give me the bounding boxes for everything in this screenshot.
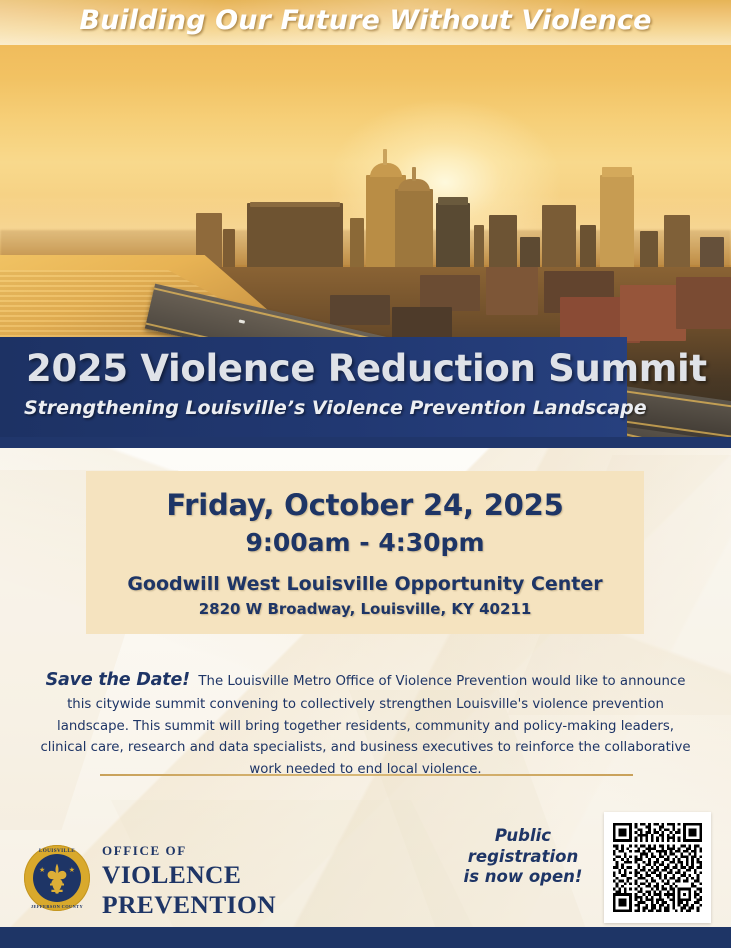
title-band: 2025 Violence Reduction Summit Strengthe… [0,337,627,437]
qr-code-card[interactable] [604,812,711,923]
page-title: 2025 Violence Reduction Summit [26,347,707,390]
event-date: Friday, October 24, 2025 [86,471,644,522]
flyer-page: Building Our Future Without Violence [0,0,731,948]
registration-line-2: is now open! [443,867,603,888]
city-block-2 [486,267,538,315]
fleur-de-lis-icon [44,863,70,895]
logo-office-of: OFFICE OF [102,843,276,859]
city-block-7 [330,295,390,325]
ovp-logo: LOUISVILLE JEFFERSON COUNTY ★ ★ OFFICE O… [24,843,269,919]
seal-top-text: LOUISVILLE [24,848,90,854]
event-details-box: Friday, October 24, 2025 9:00am - 4:30pm… [86,471,644,634]
louisville-jefferson-county-seal-icon: LOUISVILLE JEFFERSON COUNTY ★ ★ [24,845,90,911]
city-block-1 [420,275,480,311]
logo-prevention: PREVENTION [102,891,276,919]
registration-callout: Public registration is now open! [443,826,603,888]
banner-headline: Building Our Future Without Violence [0,5,731,36]
seal-inner-disc: ★ ★ [33,854,81,902]
event-venue: Goodwill West Louisville Opportunity Cen… [86,557,644,595]
navy-strip [0,437,731,448]
logo-violence: VIOLENCE [102,861,276,889]
footer-bar [0,927,731,948]
seal-bottom-text: JEFFERSON COUNTY [24,904,90,909]
ovp-logo-text: OFFICE OF VIOLENCE PREVENTION [102,843,276,918]
event-time: 9:00am - 4:30pm [86,522,644,557]
registration-line-1: Public registration [443,826,603,867]
city-block-6 [676,277,731,329]
event-address: 2820 W Broadway, Louisville, KY 40211 [86,595,644,618]
save-the-date-lead: Save the Date! [46,670,190,690]
body-copy: Save the Date! The Louisville Metro Offi… [34,666,697,780]
city-block-8 [392,307,452,341]
page-subtitle: Strengthening Louisville’s Violence Prev… [24,397,647,419]
gold-divider [100,774,633,776]
qr-code-icon[interactable] [613,823,702,912]
